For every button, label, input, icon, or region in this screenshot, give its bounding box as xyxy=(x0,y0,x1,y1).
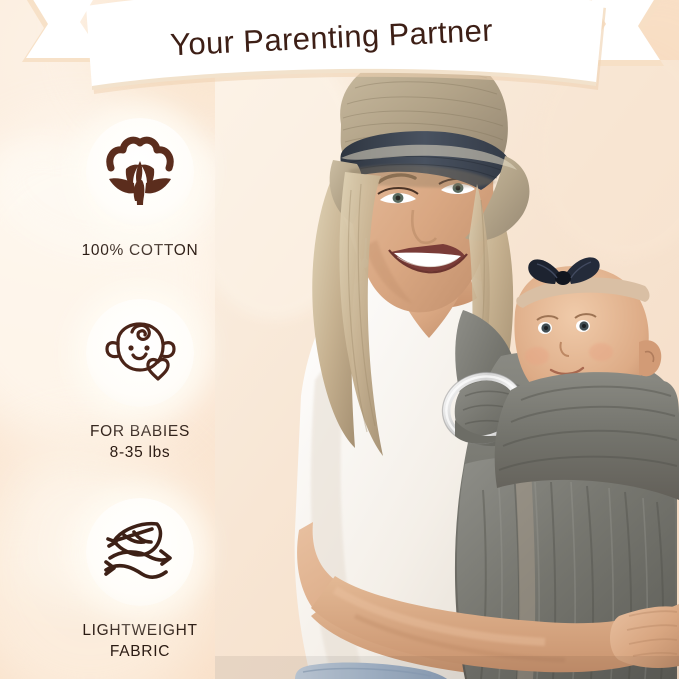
banner-ribbon: Your Parenting Partner xyxy=(0,0,679,106)
feature-label: LIGHTWEIGHT FABRIC xyxy=(56,621,224,663)
feature-cotton: 100% COTTON xyxy=(56,118,224,262)
product-photo xyxy=(215,60,679,679)
feature-badge xyxy=(86,118,194,226)
feature-lightweight-fabric: LIGHTWEIGHT FABRIC xyxy=(56,498,224,663)
feature-badge xyxy=(86,498,194,606)
cotton-boll-icon xyxy=(103,135,177,209)
feature-for-babies: FOR BABIES 8-35 lbs xyxy=(56,299,224,464)
feature-label: FOR BABIES 8-35 lbs xyxy=(56,422,224,464)
feather-airflow-icon xyxy=(100,520,180,584)
baby-face-icon xyxy=(102,320,178,386)
feature-badge xyxy=(86,299,194,407)
feature-label: 100% COTTON xyxy=(56,241,224,262)
product-infographic: Your Parenting Partner 100% COTTON xyxy=(0,0,679,679)
